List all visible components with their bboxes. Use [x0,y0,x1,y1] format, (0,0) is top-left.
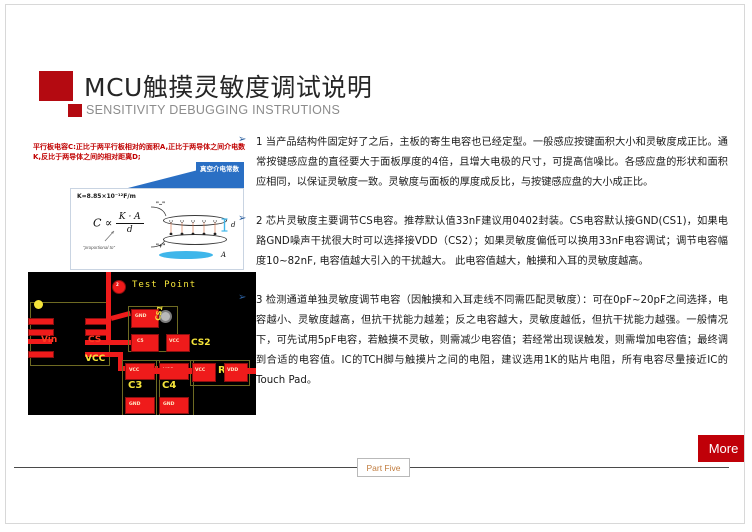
more-button-label: More [709,441,739,456]
paragraph-3: ➢ 3 检测通道单独灵敏度调节电容（因触摸和入耳走线不同需匹配灵敏度）：可在0p… [238,291,728,391]
c4-label: C4 [162,380,176,391]
k-constant-label: K=8.85×10⁻¹²F/m [77,193,136,200]
proportional-arrow-icon [104,229,117,242]
cs-label: CS [88,335,101,345]
pin1-marker [34,300,43,309]
formula-symbol: C ∝ [93,217,112,230]
trace-r5-left [152,368,196,374]
plate-spacing-indicator [221,218,228,232]
trace-testpoint-vertical [106,272,111,318]
paragraph-2: ➢ 2 芯片灵敏度主要调节CS电容。推荐默认值33nF建议用0402封装。CS电… [238,212,728,272]
part-indicator-label: Part Five [366,463,400,473]
part-indicator: Part Five [357,458,410,477]
callout-wedge [120,170,198,190]
bullet-icon: ➢ [238,292,246,303]
formula-numerator: K · A [116,212,144,222]
ic-pad-left-1 [28,318,54,325]
capacitor-diagram-panel: K=8.85×10⁻¹²F/m C ∝ K · A d "proportiona… [70,188,244,270]
vacuum-permittivity-callout: 真空介电常数 [196,162,244,189]
trace-cs-vertical [106,316,111,342]
test-point-via [112,280,126,294]
cs1-c5-label: C5 [137,339,144,344]
body-content: ➢ 1 当产品结构件固定好了之后，主板的寄生电容也已经定型。一般感应按键面积大小… [238,133,728,410]
capacitor-bottom-plate [163,234,227,245]
vin-label: Vin [41,335,57,345]
slide-canvas: MCU触摸灵敏度调试说明 SENSITIVITY DEBUGGING INSTR… [5,4,745,524]
more-button[interactable]: More [698,435,745,462]
area-label-a: A [221,251,226,259]
ic-pad-left-4 [28,351,54,358]
capacitor-theory-figure: 平行板电容C:正比于两平行板相对的面积A,正比于两导体之间介电数K,反比于两导体… [28,138,256,273]
paragraph-3-text: 3 检测通道单独灵敏度调节电容（因触摸和入耳走线不同需匹配灵敏度）：可在0pF~… [256,291,728,391]
bullet-icon: ➢ [238,134,246,145]
capacitor-note-text: 平行板电容C:正比于两平行板相对的面积A,正比于两导体之间介电数K,反比于两导体… [33,142,247,162]
proportional-note: "proportional to" [83,245,115,250]
paragraph-2-text: 2 芯片灵敏度主要调节CS电容。推荐默认值33nF建议用0402封装。CS电容默… [256,212,728,272]
capacitance-formula: C ∝ K · A d [93,212,144,235]
subtitle-accent-square [68,104,82,117]
electric-field-lines [165,220,223,235]
page-title: MCU触摸灵敏度调试说明 [84,68,372,104]
c3-vcc-label: VCC [129,368,139,373]
page-subtitle: SENSITIVITY DEBUGGING INSTRUTIONS [86,103,340,117]
bullet-icon: ➢ [238,213,246,224]
c4-gnd-label: GND [163,402,174,407]
test-point-number: 2 [116,282,119,287]
plate-area-ellipse [159,251,213,259]
cs2-label: CS2 [191,338,211,348]
r5-vdd-label: VDD [227,368,238,373]
paragraph-1-text: 1 当产品结构件固定好了之后，主板的寄生电容也已经定型。一般感应按键面积大小和灵… [256,133,728,193]
cs1-gnd-label: GND [135,314,146,319]
paragraph-1: ➢ 1 当产品结构件固定好了之后，主板的寄生电容也已经定型。一般感应按键面积大小… [238,133,728,193]
c3-gnd-label: GND [129,402,140,407]
cs2-vcc-label: VCC [169,339,179,344]
r5-vcc-label: VCC [195,368,205,373]
formula-denominator: d [116,225,144,235]
spacing-label-d: d [231,221,235,229]
c3-label: C3 [128,380,142,391]
cs1-c5-pad [131,334,159,352]
vcc-label: VCC [85,354,105,364]
pcb-layout-figure: 2 Test Point GND C5 CS1 VCC CS2 VCC C3 G… [28,272,256,415]
test-point-label: Test Point [132,280,196,290]
title-accent-square [39,71,73,101]
